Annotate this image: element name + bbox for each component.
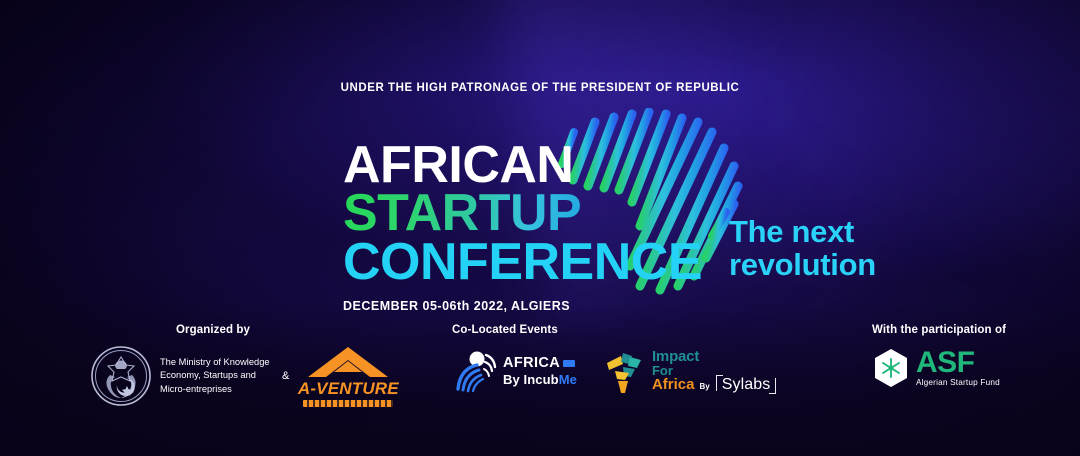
a-venture-logo: A-VENTURE bbox=[296, 345, 400, 407]
incubme-square-icon bbox=[563, 360, 575, 367]
organized-by-section: Organized by The Ministry of Knowledge E… bbox=[90, 324, 420, 407]
sylabs-name: Sylabs bbox=[722, 376, 771, 393]
patronage-line: UNDER THE HIGH PATRONAGE OF THE PRESIDEN… bbox=[0, 82, 1080, 94]
africa-text: Africa bbox=[652, 377, 695, 392]
conference-banner: UNDER THE HIGH PATRONAGE OF THE PRESIDEN… bbox=[0, 0, 1080, 456]
impact-for-africa-map-icon bbox=[601, 347, 649, 395]
asf-subtitle: Algerian Startup Fund bbox=[916, 378, 1000, 387]
sylabs-logo: Sylabs bbox=[716, 377, 777, 393]
incubme-africa-text: AFRICA bbox=[503, 355, 560, 371]
for-text: For bbox=[652, 364, 776, 377]
impact-text: Impact bbox=[652, 349, 776, 364]
event-tagline: The next revolution bbox=[729, 216, 876, 281]
ministry-name: The Ministry of Knowledge Economy, Start… bbox=[160, 356, 278, 396]
tagline-line-2: revolution bbox=[729, 249, 876, 282]
organized-by-label: Organized by bbox=[176, 324, 420, 336]
tagline-line-1: The next bbox=[729, 216, 876, 249]
a-venture-subtitle-bar bbox=[303, 400, 393, 407]
incubme-logo: AFRICA By IncubMe bbox=[452, 349, 577, 393]
a-venture-chevron-icon bbox=[296, 345, 400, 379]
participation-label: With the participation of bbox=[862, 324, 1062, 336]
partners-strip: Organized by The Ministry of Knowledge E… bbox=[0, 324, 1080, 434]
sylabs-bracket-left-icon bbox=[716, 375, 723, 391]
event-date-location: DECEMBER 05-06th 2022, ALGIERS bbox=[343, 299, 702, 313]
colocated-events-label: Co-Located Events bbox=[452, 324, 852, 336]
asf-name: ASF bbox=[916, 349, 1000, 376]
colocated-events-section: Co-Located Events bbox=[452, 324, 852, 395]
title-line-african: AFRICAN bbox=[343, 141, 702, 189]
incubme-byline: By IncubMe bbox=[503, 372, 577, 387]
algeria-national-emblem-icon bbox=[90, 345, 152, 407]
incubme-me: Me bbox=[559, 372, 577, 387]
event-title-block: AFRICAN STARTUP CONFERENCE DECEMBER 05-0… bbox=[343, 141, 702, 313]
title-line-startup: STARTUP bbox=[343, 189, 702, 237]
title-line-conference: CONFERENCE bbox=[343, 238, 702, 286]
asf-hexagon-star-icon bbox=[872, 348, 910, 388]
impact-by-label: By bbox=[700, 383, 710, 391]
participation-section: With the participation of ASF bbox=[862, 324, 1062, 388]
a-venture-name: A-VENTURE bbox=[296, 380, 400, 397]
sylabs-bracket-right-icon bbox=[769, 378, 776, 394]
ampersand-separator: & bbox=[282, 370, 289, 382]
incubme-fingerprint-icon bbox=[452, 349, 498, 393]
incubme-by-incub: By Incub bbox=[503, 372, 559, 387]
impact-for-africa-logo: Impact For Africa By Sylabs bbox=[601, 347, 776, 395]
